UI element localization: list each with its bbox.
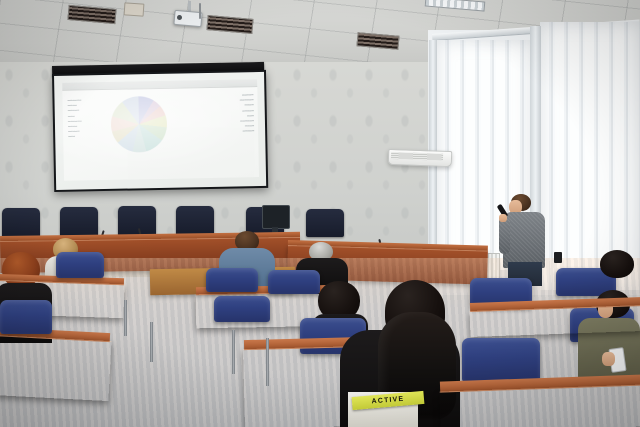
ceiling-box: [124, 2, 145, 16]
presidium-chair: [306, 209, 344, 237]
chair-leg: [124, 300, 127, 336]
presenter-hand: [499, 214, 507, 222]
desk-monitor[interactable]: [262, 205, 290, 229]
auditorium-seat: [56, 252, 104, 278]
presidium-chair: [118, 206, 156, 236]
auditorium-seat: [462, 338, 540, 382]
man-olive-hand: [602, 352, 615, 366]
row-desk: [0, 335, 111, 401]
chart-legend-right: ▬▬▬▬▬▬▬▬▬▬▬▬▬▬▬▬▬▬▬▬▬▬▬▬▬▬▬▬▬▬▬▬▬▬▬▬▬▬: [240, 93, 255, 135]
projector-cable: [199, 3, 201, 19]
pie-chart: [110, 96, 167, 153]
screen-surface: ▬▬▬▬▬▬▬▬▬▬▬▬▬▬▬▬▬▬▬▬▬▬▬▬▬▬▬▬▬▬▬▬▬▬▬▬ ▬▬▬…: [54, 72, 266, 190]
presidium-chair: [176, 206, 214, 236]
chair-leg: [232, 330, 235, 374]
auditorium-seat: [206, 268, 258, 292]
row-desk: [439, 384, 640, 427]
conference-hall-photo: ▬▬▬▬▬▬▬▬▬▬▬▬▬▬▬▬▬▬▬▬▬▬▬▬▬▬▬▬▬▬▬▬▬▬▬▬ ▬▬▬…: [0, 0, 640, 427]
auditorium-seat: [268, 270, 320, 294]
air-conditioner-grille: [391, 152, 443, 161]
vertical-blinds: [540, 22, 640, 290]
chair-leg: [150, 322, 153, 362]
presidium-chair: [60, 207, 98, 237]
chair-leg: [266, 338, 269, 386]
slide-toolbar: [62, 79, 257, 91]
air-conditioner: [388, 149, 453, 167]
desk-item: [554, 252, 562, 263]
woman-right-back-hair: [600, 250, 634, 278]
presidium-chair: [2, 208, 40, 238]
chart-legend-left: ▬▬▬▬▬▬▬▬▬▬▬▬▬▬▬▬▬▬▬▬▬▬▬▬▬▬▬▬▬▬▬▬▬▬▬▬: [67, 98, 82, 140]
projector-lens-icon: [177, 15, 182, 20]
projection-screen[interactable]: ▬▬▬▬▬▬▬▬▬▬▬▬▬▬▬▬▬▬▬▬▬▬▬▬▬▬▬▬▬▬▬▬▬▬▬▬ ▬▬▬…: [52, 70, 268, 192]
auditorium-seat: [214, 296, 270, 322]
presentation-slide: ▬▬▬▬▬▬▬▬▬▬▬▬▬▬▬▬▬▬▬▬▬▬▬▬▬▬▬▬▬▬▬▬▬▬▬▬ ▬▬▬…: [62, 79, 259, 181]
auditorium-seat: [0, 300, 52, 334]
